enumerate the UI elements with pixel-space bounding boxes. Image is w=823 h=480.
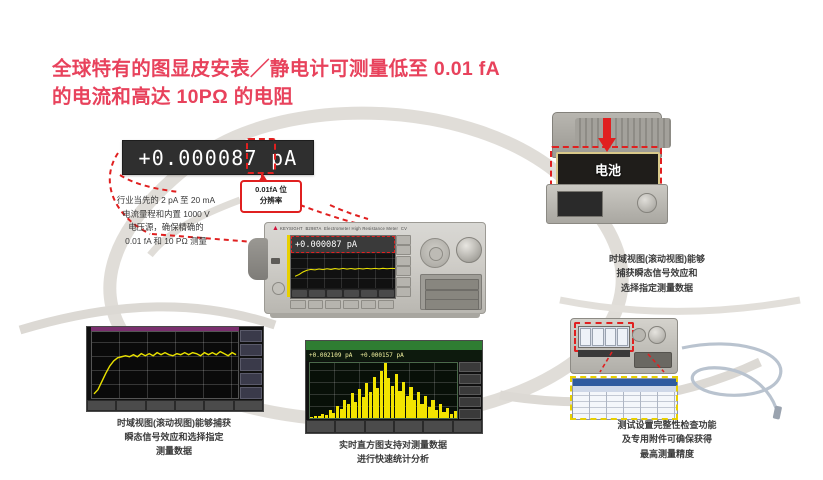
nav-enter-button[interactable] [429,247,443,261]
display-trace [295,266,395,278]
histogram-bar [332,413,335,419]
function-key-5[interactable] [361,300,377,309]
softkey-3[interactable] [396,256,411,266]
histogram-bar [398,391,401,418]
rolling-view-caption: 时域视图(滚动视图)能够捕获 瞬态信号效应和选择指定 测量数据 [86,417,262,459]
battery-slot-highlight [550,146,662,188]
instrument-mode: CV [401,226,407,231]
histogram-softkey-2[interactable] [459,374,481,384]
histogram-caption: 实时直方图支持对测量数据 进行快速统计分析 [305,439,481,467]
histogram-softkey-1[interactable] [459,362,481,372]
histogram-menu-1[interactable] [307,421,334,432]
histogram-menu-6[interactable] [454,421,481,432]
histogram-bar [406,396,409,418]
histogram-menu-3[interactable] [366,421,393,432]
rolling-menu-1[interactable] [88,401,115,410]
poster-canvas: 全球特有的图显皮安表／静电计可测量低至 0.01 fA 的电流和高达 10PΩ … [0,0,823,480]
histogram-bar [340,409,343,418]
accessory-caption: 测试设置完整性检查功能 及专用附件可确保获得 最高测量精度 [562,418,772,461]
histogram-softkey-5[interactable] [459,409,481,419]
triaxial-cable-icon [676,330,796,422]
histogram-bar [424,396,427,418]
histogram-bar [431,400,434,418]
rolling-view-trace [92,332,238,398]
histogram-bar [321,414,324,418]
histogram-titlebar [306,341,482,350]
down-arrow-icon [598,118,616,152]
usb-port[interactable] [271,258,280,264]
spec-line-4: 0.01 fA 和 10 PΩ 测量 [98,235,234,249]
hero-digit-highlight [246,138,276,174]
histogram-bar [347,404,350,418]
histogram-bars [310,363,457,418]
histogram-bar [362,397,365,418]
keysight-logo-icon: ▲ [272,226,278,232]
histogram-bar [417,392,420,418]
headline-line-1: 全球特有的图显皮安表／静电计可测量低至 0.01 fA [52,56,572,84]
table-highlight [570,376,678,420]
rolling-view-menubar[interactable] [87,400,263,411]
histogram-bar [395,374,398,418]
histogram-bar [442,412,445,418]
spec-line-1: 行业当先的 2 pA 至 20 mA [98,194,234,208]
histogram-bar [387,378,390,418]
display-menu-bar [291,289,395,298]
rolling-menu-2[interactable] [117,401,144,410]
spec-paragraph: 行业当先的 2 pA 至 20 mA 电流量程和内置 1000 V 电压源，确保… [98,194,234,248]
rotary-knob[interactable] [456,237,482,263]
terminal-row-1[interactable] [425,279,479,290]
rolling-menu-3[interactable] [147,401,174,410]
battery-base-knob[interactable] [637,193,657,213]
histogram-bar [365,383,368,418]
histogram-bar [373,377,376,418]
histogram-bar [435,410,438,418]
histogram-bar [351,393,354,418]
instrument-brand: KEYSIGHT [280,226,303,231]
histogram-bar [314,416,317,418]
display-graph-area [291,254,395,288]
histogram-panel: +0.002109 pA +0.000157 pA [305,340,481,467]
battery-module: 电池 [536,112,676,224]
rolling-menu-4[interactable] [176,401,203,410]
function-key-3[interactable] [325,300,341,309]
resolution-callout: 0.01fA 位 分辨率 [240,180,302,213]
rolling-menu-5[interactable] [205,401,232,410]
spec-line-2: 电流量程和内置 1000 V [98,208,234,222]
histogram-values: +0.002109 pA +0.000157 pA [306,350,482,361]
histogram-caption-line-2: 进行快速统计分析 [305,453,481,467]
histogram-plot [309,362,458,419]
histogram-bar [420,404,423,418]
histogram-bar [318,416,321,418]
histogram-bar [380,371,383,418]
power-button[interactable] [272,282,285,295]
function-key-4[interactable] [343,300,359,309]
battery-base-display [557,191,603,217]
electrometer-instrument: ▲ KEYSIGHT B2987A Electrometer High Resi… [264,222,486,314]
rolling-softkey-5[interactable] [240,387,262,399]
rolling-menu-6[interactable] [235,401,262,410]
terminal-row-3[interactable] [425,299,479,310]
headline-line-2: 的电流和高达 10PΩ 的电阻 [52,84,572,112]
accessory-status-strip [578,350,630,357]
softkey-6[interactable] [396,287,411,297]
histogram-softkey-3[interactable] [459,386,481,396]
function-key-6[interactable] [378,300,394,309]
accessory-caption-line-1: 测试设置完整性检查功能 [562,418,772,432]
battery-caption: 时域视图(滚动视图)能够 捕获瞬态信号效应和 选择指定测量数据 [572,252,742,295]
histogram-bar [358,389,361,418]
accessory-caption-line-3: 最高测量精度 [562,447,772,461]
softkey-4[interactable] [396,266,411,276]
rolling-softkey-3[interactable] [240,358,262,370]
histogram-bar [409,387,412,418]
accessory-small-knob[interactable] [632,328,646,342]
function-key-2[interactable] [308,300,324,309]
softkey-1[interactable] [396,235,411,245]
histogram-bar [343,400,346,418]
histogram-bar [428,407,431,418]
instrument-description: Electrometer High Resistance Meter [324,226,398,231]
histogram-bar [354,402,357,419]
histogram-bar [391,386,394,418]
histogram-softkey-4[interactable] [459,397,481,407]
accessory-rotary-knob[interactable] [648,326,666,344]
battery-base-unit [546,184,668,224]
battery-caption-line-2: 捕获瞬态信号效应和 [572,266,742,280]
instrument-model: B2987A [305,226,321,231]
histogram-bar [450,414,453,418]
hero-measurement-readout: +0.000087 pA [122,140,314,175]
battery-caption-line-1: 时域视图(滚动视图)能够 [572,252,742,266]
rolling-caption-line-1: 时域视图(滚动视图)能够捕获 [86,417,262,431]
rolling-softkey-1[interactable] [240,330,262,342]
display-range-indicator [287,235,290,297]
histogram-bar [384,363,387,418]
instrument-softkey-column[interactable] [396,235,411,297]
rolling-caption-line-2: 瞬态信号效应和选择指定 [86,431,262,445]
accessory-caption-line-2: 及专用附件可确保获得 [562,432,772,446]
histogram-bar [376,388,379,418]
histogram-caption-line-1: 实时直方图支持对测量数据 [305,439,481,453]
function-key-1[interactable] [290,300,306,309]
histogram-bar [336,406,339,418]
callout-line-2: 分辨率 [244,196,298,207]
accessory-terminals[interactable] [634,352,672,368]
histogram-menubar[interactable] [306,420,482,433]
battery-vent-fins [575,118,671,148]
rolling-softkey-2[interactable] [240,344,262,356]
instrument-model-text: KEYSIGHT B2987A Electrometer High Resist… [280,226,407,231]
histogram-screenshot: +0.002109 pA +0.000157 pA [305,340,483,434]
histogram-bar [310,417,313,418]
histogram-mean-value: +0.002109 pA [309,350,352,361]
instrument-function-keys[interactable] [290,300,394,309]
histogram-bar [402,382,405,418]
rolling-caption-line-3: 测量数据 [86,445,262,459]
battery-caption-line-3: 选择指定测量数据 [572,281,742,295]
histogram-softkeys[interactable] [459,362,481,419]
histogram-bar [325,415,328,418]
instrument-base [270,313,480,318]
rolling-softkey-4[interactable] [240,373,262,385]
terminal-block [420,274,482,310]
histogram-bar [369,392,372,418]
softkey-5[interactable] [396,277,411,287]
softkey-2[interactable] [396,245,411,255]
histogram-menu-5[interactable] [424,421,451,432]
rolling-view-softkeys[interactable] [240,330,262,399]
callout-line-1: 0.01fA 位 [244,185,298,196]
histogram-bar [413,400,416,418]
histogram-bar [329,410,332,418]
navigation-pad[interactable] [420,238,450,268]
histogram-menu-2[interactable] [336,421,363,432]
page-title: 全球特有的图显皮安表／静电计可测量低至 0.01 fA 的电流和高达 10PΩ … [52,56,572,111]
histogram-bar [446,408,449,418]
display-value-highlight [291,236,395,253]
accessory-display-highlight [574,322,634,352]
instrument-display[interactable]: +0.000087 pA [290,235,396,299]
instrument-side-handle [248,238,268,280]
spec-line-3: 电压源，确保精确的 [98,221,234,235]
rolling-view-screenshot [86,326,264,412]
histogram-menu-4[interactable] [395,421,422,432]
rolling-view-panel: 时域视图(滚动视图)能够捕获 瞬态信号效应和选择指定 测量数据 [86,326,262,459]
histogram-sigma-value: +0.000157 pA [360,350,403,361]
histogram-bar [439,404,442,418]
histogram-bar [454,411,457,418]
rolling-view-plot [91,331,239,399]
accessory-instrument [570,318,678,374]
